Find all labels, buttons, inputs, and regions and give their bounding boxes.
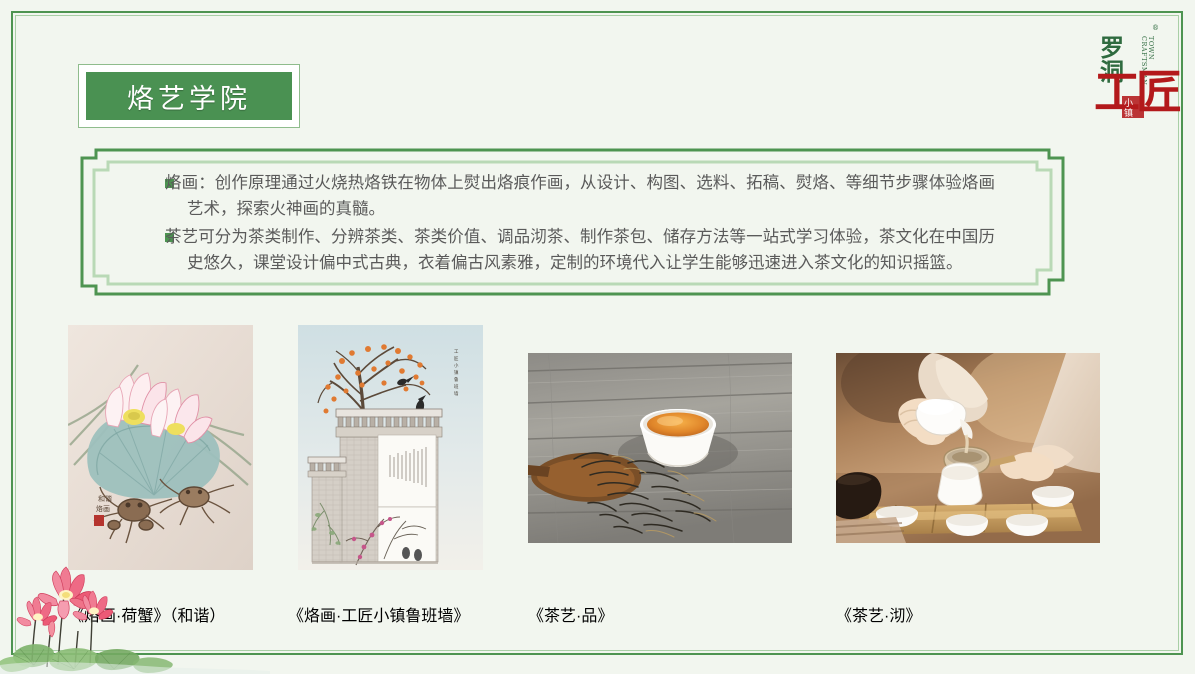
tea-brewing-image[interactable] [836,353,1100,543]
gallery-item[interactable] [528,353,792,543]
section-title-fill: 烙艺学院 [86,72,292,120]
lotus-pond-decoration [0,565,330,674]
svg-text:班: 班 [454,383,459,390]
gallery-caption: 《茶艺·品》 [528,602,792,626]
page-title: 烙艺学院 [127,77,251,116]
slide-canvas: ® TOWN CRAFTSMAN 罗 洞 工匠 小 镇 烙艺学院 [0,0,1195,674]
gallery-caption: 《烙画·荷蟹》（和谐） [68,602,253,626]
svg-text:匠: 匠 [454,356,459,362]
description-bullet-text: 茶艺可分为茶类制作、分辨茶类、茶类价值、调品沏茶、制作茶包、储存方法等一站式学习… [187,224,995,276]
gallery-caption-text: 《烙画·荷蟹》（和谐） [68,602,253,626]
svg-text:烙画: 烙画 [96,504,110,513]
pyrography-luban-wall-image[interactable]: 工匠 小镇 鲁班 墙 [298,325,483,570]
description-bullet: 茶艺可分为茶类制作、分辨茶类、茶类价值、调品沏茶、制作茶包、储存方法等一站式学习… [165,224,995,276]
svg-text:小: 小 [454,362,459,369]
svg-text:鲁: 鲁 [454,376,459,383]
gallery-item[interactable]: 工匠 小镇 鲁班 墙 [298,325,483,570]
gallery-caption-text: 《烙画·工匠小镇鲁班墙》 [288,602,493,626]
description-bullet-text: 烙画：创作原理通过火烧热烙铁在物体上熨出烙痕作画，从设计、构图、选料、拓稿、熨烙… [187,170,995,222]
description-textbox: 烙画：创作原理通过火烧热烙铁在物体上熨出烙痕作画，从设计、构图、选料、拓稿、熨烙… [80,148,1065,296]
svg-text:镇: 镇 [1124,107,1133,119]
pyrography-lotus-crab-image[interactable]: 和谐 烙画 [68,325,253,570]
svg-text:和谐: 和谐 [98,494,112,503]
brand-logo: ® TOWN CRAFTSMAN 罗 洞 工匠 小 镇 [1086,14,1190,122]
section-title-plaque: 烙艺学院 [78,64,300,128]
svg-text:小: 小 [1124,98,1133,109]
gallery-caption-text: 《茶艺·沏》 [836,602,1100,626]
gallery-caption-text: 《茶艺·品》 [528,602,792,626]
svg-text:墙: 墙 [454,390,459,397]
gallery-item[interactable] [836,353,1100,543]
tea-tasting-image[interactable] [528,353,792,543]
svg-text:工: 工 [454,349,459,355]
description-bullet: 烙画：创作原理通过火烧热烙铁在物体上熨出烙痕作画，从设计、构图、选料、拓稿、熨烙… [165,170,995,222]
gallery-caption: 《茶艺·沏》 [836,602,1100,626]
svg-text:®: ® [1152,24,1159,32]
svg-text:镇: 镇 [454,369,459,376]
description-content: 烙画：创作原理通过火烧热烙铁在物体上熨出烙痕作画，从设计、构图、选料、拓稿、熨烙… [165,170,995,278]
gallery-item[interactable]: 和谐 烙画 [68,325,253,570]
gallery-caption: 《烙画·工匠小镇鲁班墙》 [288,602,493,626]
